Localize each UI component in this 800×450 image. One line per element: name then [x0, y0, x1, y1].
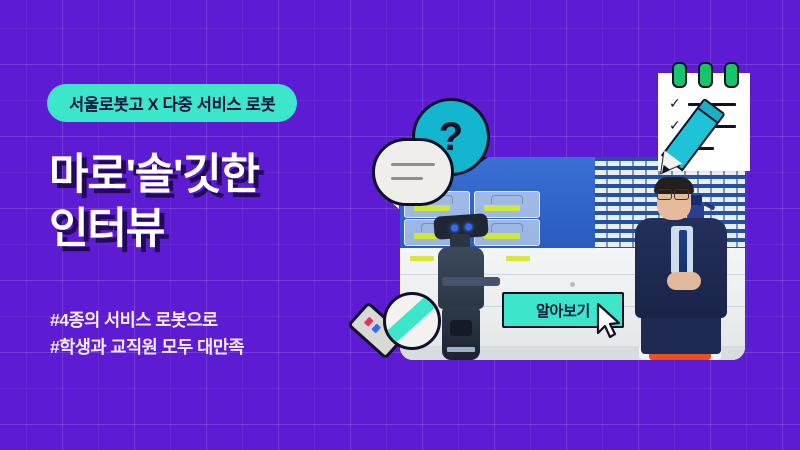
- speech-bubble-icon: [372, 138, 454, 206]
- badge-partnership: 서울로봇고 X 다중 서비스 로봇: [47, 84, 297, 122]
- learn-more-label: 알아보기: [536, 300, 590, 321]
- hashtag-list: #4종의 서비스 로봇으로 #학생과 교직원 모두 대만족: [50, 307, 244, 361]
- microphone-icon: [355, 292, 441, 368]
- promo-banner: 서울로봇고 X 다중 서비스 로봇 마로'솔'깃한 인터뷰 #4종의 서비스 로…: [0, 0, 800, 450]
- interview-photo-card: [400, 157, 745, 360]
- mouse-cursor-icon: [596, 303, 622, 339]
- check-icon: ✓: [669, 97, 682, 110]
- page-title: 마로'솔'깃한 인터뷰: [49, 148, 259, 256]
- interviewee: [623, 170, 741, 360]
- badge-label: 서울로봇고 X 다중 서비스 로봇: [69, 91, 275, 115]
